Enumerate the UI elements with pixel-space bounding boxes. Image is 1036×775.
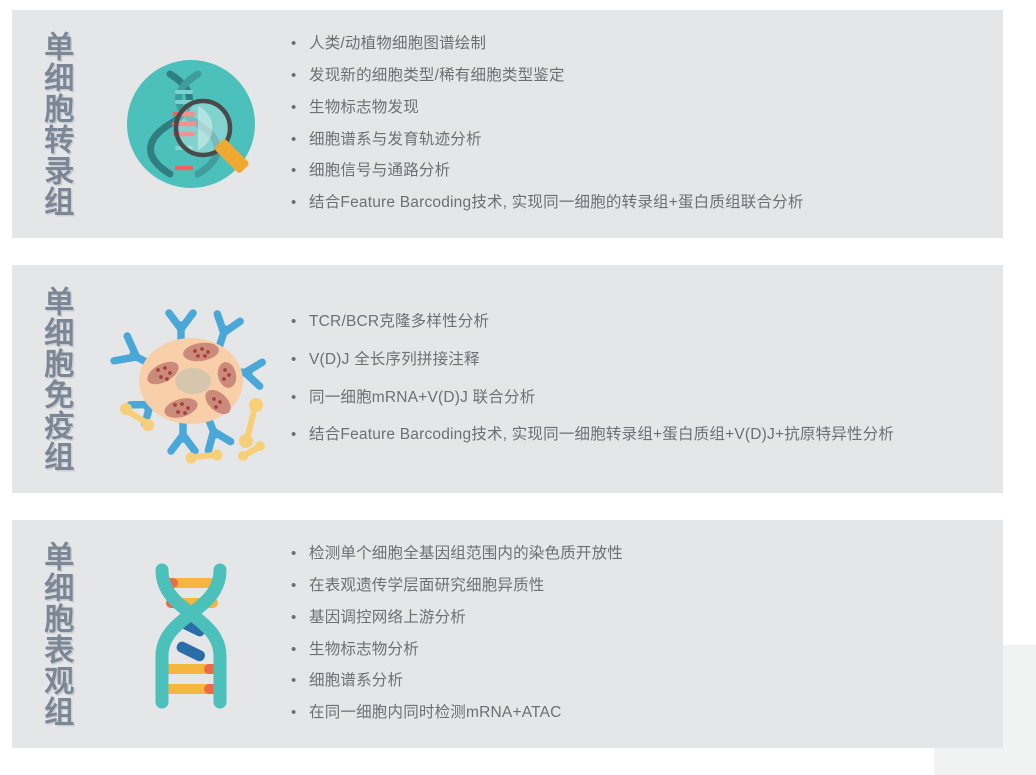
list-item-label: 生物标志物发现: [309, 97, 419, 120]
list-item: • 发现新的细胞类型/稀有细胞类型鉴定: [291, 60, 983, 92]
bullet-icon: •: [291, 670, 309, 692]
bullet-icon: •: [291, 160, 309, 182]
list-item-label: 生物标志物分析: [309, 639, 419, 662]
bullet-icon: •: [291, 702, 309, 724]
panel-title-text: 单细胞表观组: [37, 541, 74, 727]
list-item: • 基因调控网络上游分析: [291, 602, 983, 634]
list-item: • 细胞谱系分析: [291, 666, 983, 698]
bullet-icon: •: [291, 65, 309, 87]
bullet-icon: •: [291, 311, 309, 333]
panels-stage: 单细胞转录组: [0, 0, 1036, 761]
list-item: • 检测单个细胞全基因组范围内的染色质开放性: [291, 538, 983, 570]
bullet-icon: •: [291, 639, 309, 661]
bullet-icon: •: [291, 349, 309, 371]
panel-title-transcriptome: 单细胞转录组: [12, 10, 98, 238]
list-item: • 人类/动植物细胞图谱绘制: [291, 28, 983, 60]
list-item: • 生物标志物发现: [291, 92, 983, 124]
list-item: • 结合Feature Barcoding技术, 实现同一细胞转录组+蛋白质组+…: [291, 417, 983, 455]
list-item: • 细胞信号与通路分析: [291, 156, 983, 188]
list-item: • V(D)J 全长序列拼接注释: [291, 341, 983, 379]
list-item-label: V(D)J 全长序列拼接注释: [309, 349, 480, 372]
bullet-list-immunome: • TCR/BCR克隆多样性分析 • V(D)J 全长序列拼接注释 • 同一细胞…: [283, 303, 1003, 455]
panel-title-text: 单细胞转录组: [37, 31, 74, 217]
bullet-icon: •: [291, 424, 309, 446]
list-item: • TCR/BCR克隆多样性分析: [291, 303, 983, 341]
list-item-label: 细胞谱系与发育轨迹分析: [309, 129, 482, 152]
bullet-list-transcriptome: • 人类/动植物细胞图谱绘制 • 发现新的细胞类型/稀有细胞类型鉴定 • 生物标…: [283, 28, 1003, 220]
list-item: • 结合Feature Barcoding技术, 实现同一细胞的转录组+蛋白质组…: [291, 188, 983, 220]
list-item-label: 同一细胞mRNA+V(D)J 联合分析: [309, 387, 535, 410]
panel-single-cell-immunome: 单细胞免疫组: [12, 265, 1003, 493]
list-item-label: 发现新的细胞类型/稀有细胞类型鉴定: [309, 65, 565, 88]
list-item-label: 细胞信号与通路分析: [309, 160, 450, 183]
bullet-icon: •: [291, 575, 309, 597]
panel-title-text: 单细胞免疫组: [37, 286, 74, 472]
list-item-label: 基因调控网络上游分析: [309, 607, 466, 630]
bullet-icon: •: [291, 607, 309, 629]
panel-title-immunome: 单细胞免疫组: [12, 265, 98, 493]
list-item: • 生物标志物分析: [291, 634, 983, 666]
dna-magnifier-circle-icon: [98, 10, 283, 238]
bullet-icon: •: [291, 387, 309, 409]
bullet-icon: •: [291, 543, 309, 565]
list-item-label: 结合Feature Barcoding技术, 实现同一细胞的转录组+蛋白质组联合…: [309, 192, 804, 215]
bullet-icon: •: [291, 33, 309, 55]
list-item-label: TCR/BCR克隆多样性分析: [309, 311, 489, 334]
immune-cell-antibody-icon: [98, 265, 283, 493]
list-item-label: 检测单个细胞全基因组范围内的染色质开放性: [309, 543, 623, 566]
bullet-icon: •: [291, 192, 309, 214]
panel-title-epigenome: 单细胞表观组: [12, 520, 98, 748]
list-item-label: 人类/动植物细胞图谱绘制: [309, 33, 486, 56]
list-item: • 细胞谱系与发育轨迹分析: [291, 124, 983, 156]
list-item: • 在表观遗传学层面研究细胞异质性: [291, 570, 983, 602]
bullet-list-epigenome: • 检测单个细胞全基因组范围内的染色质开放性 • 在表观遗传学层面研究细胞异质性…: [283, 538, 1003, 730]
list-item-label: 细胞谱系分析: [309, 670, 403, 693]
bullet-icon: •: [291, 129, 309, 151]
list-item-label: 在表观遗传学层面研究细胞异质性: [309, 575, 545, 598]
panel-single-cell-transcriptome: 单细胞转录组: [12, 10, 1003, 238]
list-item: • 在同一细胞内同时检测mRNA+ATAC: [291, 698, 983, 730]
dna-double-helix-icon: [98, 520, 283, 748]
list-item-label: 在同一细胞内同时检测mRNA+ATAC: [309, 702, 562, 725]
list-item-label: 结合Feature Barcoding技术, 实现同一细胞转录组+蛋白质组+V(…: [309, 424, 894, 447]
list-item: • 同一细胞mRNA+V(D)J 联合分析: [291, 379, 983, 417]
panel-single-cell-epigenome: 单细胞表观组: [12, 520, 1003, 748]
bullet-icon: •: [291, 97, 309, 119]
